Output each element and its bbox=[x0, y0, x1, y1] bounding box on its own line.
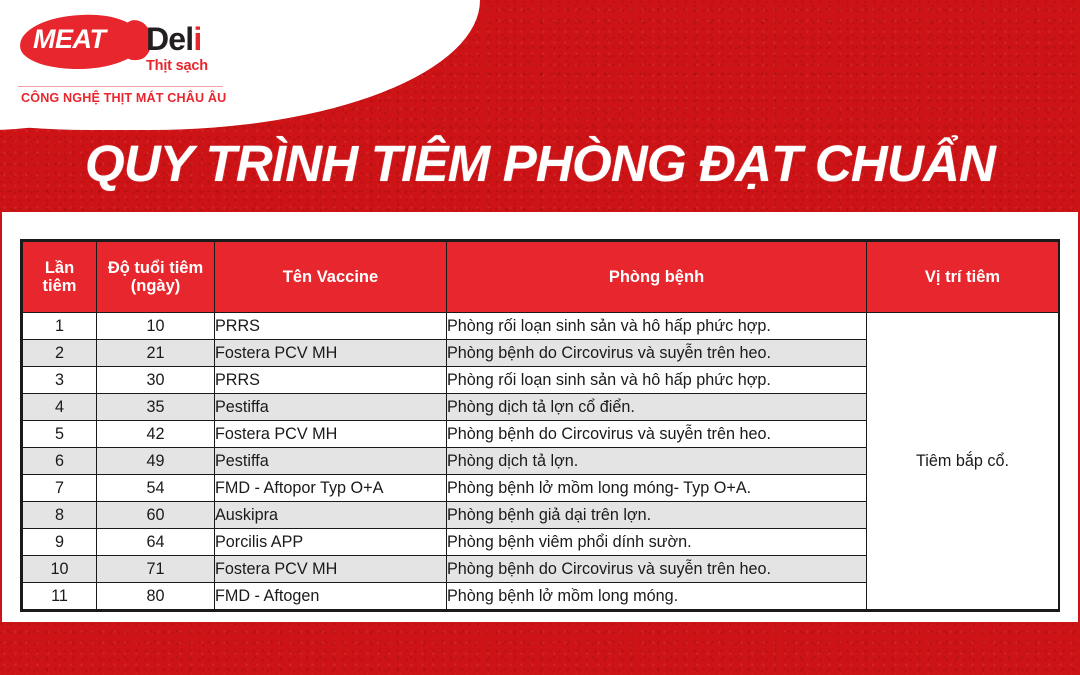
logo-deli-accent: i bbox=[193, 21, 201, 57]
cell-vaccine-name: Fostera PCV MH bbox=[215, 421, 447, 448]
cell-vaccine-name: FMD - Aftogen bbox=[215, 583, 447, 610]
cell-dose-number: 5 bbox=[23, 421, 97, 448]
cell-dose-number: 8 bbox=[23, 502, 97, 529]
cell-disease-prevented: Phòng bệnh viêm phổi dính sườn. bbox=[447, 529, 867, 556]
cell-dose-number: 10 bbox=[23, 556, 97, 583]
cell-vaccine-name: FMD - Aftopor Typ O+A bbox=[215, 475, 447, 502]
cell-age-days: 54 bbox=[97, 475, 215, 502]
th-age-days: Độ tuổi tiêm (ngày) bbox=[97, 242, 215, 313]
cell-dose-number: 6 bbox=[23, 448, 97, 475]
cell-disease-prevented: Phòng bệnh do Circovirus và suyễn trên h… bbox=[447, 421, 867, 448]
logo-slogan: Thịt sạch bbox=[146, 59, 208, 74]
th-disease-prevented: Phòng bệnh bbox=[447, 242, 867, 313]
cell-dose-number: 2 bbox=[23, 340, 97, 367]
cell-age-days: 10 bbox=[97, 313, 215, 340]
cell-vaccine-name: Porcilis APP bbox=[215, 529, 447, 556]
cell-disease-prevented: Phòng dịch tả lợn. bbox=[447, 448, 867, 475]
th-vaccine-name: Tên Vaccine bbox=[215, 242, 447, 313]
table-body: 110PRRSPhòng rối loạn sinh sản và hô hấp… bbox=[23, 313, 1059, 610]
cell-age-days: 64 bbox=[97, 529, 215, 556]
footer-band bbox=[0, 622, 1080, 675]
cell-vaccine-name: PRRS bbox=[215, 367, 447, 394]
logo-divider bbox=[18, 86, 223, 87]
logo-tagline: CÔNG NGHỆ THỊT MÁT CHÂU ÂU bbox=[21, 92, 226, 105]
cell-dose-number: 1 bbox=[23, 313, 97, 340]
brand-logo: MEAT Deli Thịt sạch CÔNG NGHỆ THỊT MÁT C… bbox=[18, 12, 228, 72]
cell-disease-prevented: Phòng bệnh lở mồm long móng- Typ O+A. bbox=[447, 475, 867, 502]
schedule-table: Lần tiêm Độ tuổi tiêm (ngày) Tên Vaccine… bbox=[22, 241, 1059, 610]
cell-dose-number: 9 bbox=[23, 529, 97, 556]
cell-age-days: 21 bbox=[97, 340, 215, 367]
cell-age-days: 80 bbox=[97, 583, 215, 610]
cell-vaccine-name: PRRS bbox=[215, 313, 447, 340]
cell-vaccine-name: Fostera PCV MH bbox=[215, 556, 447, 583]
cell-age-days: 49 bbox=[97, 448, 215, 475]
cell-injection-site: Tiêm bắp cổ. bbox=[867, 313, 1059, 610]
th-dose-number: Lần tiêm bbox=[23, 242, 97, 313]
cell-vaccine-name: Auskipra bbox=[215, 502, 447, 529]
table-head: Lần tiêm Độ tuổi tiêm (ngày) Tên Vaccine… bbox=[23, 242, 1059, 313]
cell-dose-number: 3 bbox=[23, 367, 97, 394]
cell-disease-prevented: Phòng bệnh lở mồm long móng. bbox=[447, 583, 867, 610]
cell-vaccine-name: Pestiffa bbox=[215, 394, 447, 421]
cell-disease-prevented: Phòng dịch tả lợn cổ điển. bbox=[447, 394, 867, 421]
page-title: QUY TRÌNH TIÊM PHÒNG ĐẠT CHUẨN bbox=[0, 138, 1080, 189]
cell-disease-prevented: Phòng bệnh do Circovirus và suyễn trên h… bbox=[447, 340, 867, 367]
cell-age-days: 42 bbox=[97, 421, 215, 448]
cell-disease-prevented: Phòng bệnh giả dại trên lợn. bbox=[447, 502, 867, 529]
cell-disease-prevented: Phòng rối loạn sinh sản và hô hấp phức h… bbox=[447, 367, 867, 394]
table-row: 110PRRSPhòng rối loạn sinh sản và hô hấp… bbox=[23, 313, 1059, 340]
cell-age-days: 30 bbox=[97, 367, 215, 394]
cell-dose-number: 7 bbox=[23, 475, 97, 502]
cell-dose-number: 4 bbox=[23, 394, 97, 421]
logo-deli-text: Deli bbox=[146, 23, 202, 55]
table-header-row: Lần tiêm Độ tuổi tiêm (ngày) Tên Vaccine… bbox=[23, 242, 1059, 313]
th-injection-site: Vị trí tiêm bbox=[867, 242, 1059, 313]
vaccination-schedule-table: Lần tiêm Độ tuổi tiêm (ngày) Tên Vaccine… bbox=[20, 239, 1060, 612]
cell-vaccine-name: Fostera PCV MH bbox=[215, 340, 447, 367]
cell-disease-prevented: Phòng bệnh do Circovirus và suyễn trên h… bbox=[447, 556, 867, 583]
cell-disease-prevented: Phòng rối loạn sinh sản và hô hấp phức h… bbox=[447, 313, 867, 340]
logo-meat-text: MEAT bbox=[33, 26, 106, 53]
cell-age-days: 60 bbox=[97, 502, 215, 529]
poster-root: MEAT Deli Thịt sạch CÔNG NGHỆ THỊT MÁT C… bbox=[0, 0, 1080, 675]
logo-lockup: MEAT Deli Thịt sạch bbox=[18, 12, 228, 72]
cell-dose-number: 11 bbox=[23, 583, 97, 610]
cell-vaccine-name: Pestiffa bbox=[215, 448, 447, 475]
cell-age-days: 35 bbox=[97, 394, 215, 421]
cell-age-days: 71 bbox=[97, 556, 215, 583]
